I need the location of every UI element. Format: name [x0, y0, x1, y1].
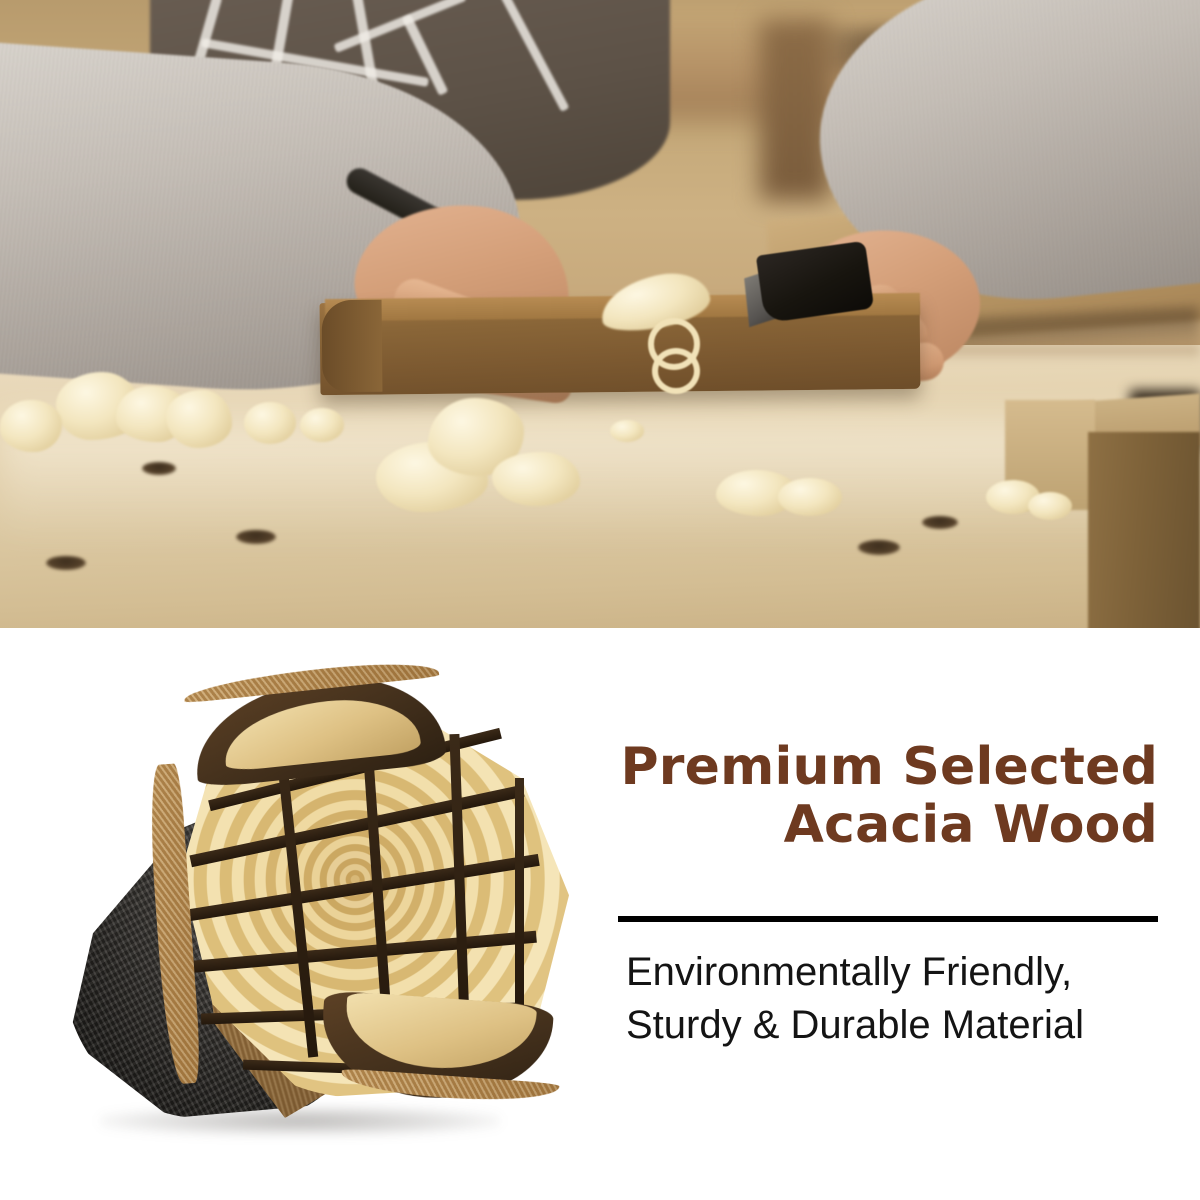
headline: Premium Selected Acacia Wood — [600, 738, 1158, 854]
marketing-banner-page: Premium Selected Acacia Wood Environment… — [0, 0, 1200, 1200]
headline-line-1: Premium Selected — [600, 738, 1158, 796]
wood-shaving — [1028, 492, 1072, 520]
wood-shaving — [166, 390, 232, 448]
text-block: Premium Selected Acacia Wood Environment… — [600, 628, 1200, 1200]
log-saw-kerf-vertical — [515, 778, 524, 1028]
wood-shaving — [778, 478, 842, 516]
wood-shaving-curl — [652, 348, 700, 394]
log-drop-shadow — [100, 1106, 500, 1136]
bench-dog-hole — [142, 462, 176, 475]
subheadline: Environmentally Friendly, Sturdy & Durab… — [626, 946, 1166, 1052]
wood-shaving — [0, 400, 62, 452]
wood-shaving — [610, 420, 644, 442]
wood-shaving — [492, 452, 580, 506]
info-panel: Premium Selected Acacia Wood Environment… — [0, 628, 1200, 1200]
bench-vise-block — [1088, 432, 1200, 628]
bench-dog-hole — [922, 516, 958, 529]
workshop-photo-panel — [0, 0, 1200, 628]
headline-divider-rule — [618, 916, 1158, 922]
wood-shaving — [244, 402, 296, 444]
bench-dog-hole — [46, 556, 86, 570]
wood-shaving — [300, 408, 344, 442]
subheadline-line-1: Environmentally Friendly, — [626, 946, 1166, 999]
bench-dog-hole — [858, 540, 900, 555]
wooden-board-rounded-end — [322, 300, 383, 393]
headline-line-2: Acacia Wood — [600, 796, 1158, 854]
subheadline-line-2: Sturdy & Durable Material — [626, 999, 1166, 1052]
background-door-frame — [760, 20, 830, 200]
wood-log-illustration — [55, 668, 575, 1168]
bench-dog-hole — [236, 530, 276, 544]
